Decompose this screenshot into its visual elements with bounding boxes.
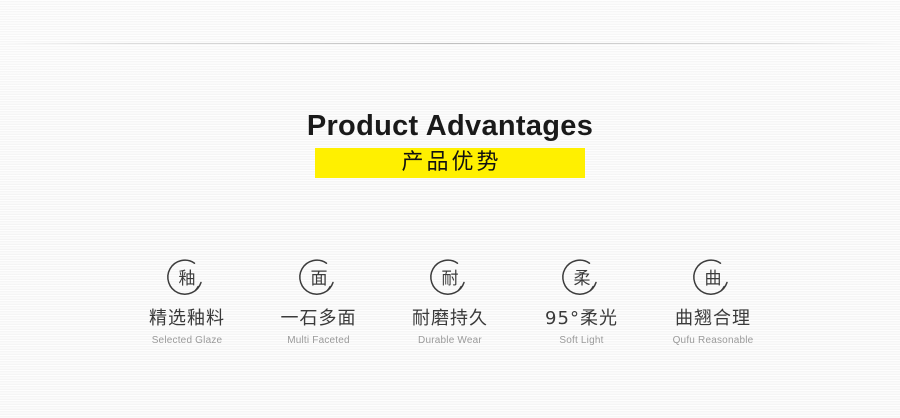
feature-item: 釉 精选釉料 Selected Glaze: [131, 255, 243, 348]
features-row: 釉 精选釉料 Selected Glaze 面 一石多面 Multi Facet…: [131, 255, 769, 348]
feature-label-chinese: 一石多面: [263, 307, 375, 331]
top-divider: [0, 43, 900, 44]
feature-item: 耐 耐磨持久 Durable Wear: [394, 255, 506, 348]
soft-light-circle-icon: 柔: [526, 255, 638, 301]
heading-block: Product Advantages 产品优势: [0, 108, 900, 178]
warp-circle-icon: 曲: [657, 255, 769, 301]
icon-glyph-text: 曲: [705, 269, 722, 289]
feature-label-english: Multi Faceted: [263, 334, 375, 348]
feature-label-chinese: 95°柔光: [526, 307, 638, 331]
feature-label-english: Qufu Reasonable: [657, 334, 769, 348]
feature-item: 曲 曲翘合理 Qufu Reasonable: [657, 255, 769, 348]
feature-label-chinese: 耐磨持久: [394, 307, 506, 331]
product-advantages-page: Product Advantages 产品优势 釉 精选釉料 Selected …: [0, 0, 900, 418]
page-title-chinese-highlight: 产品优势: [315, 148, 585, 178]
feature-label-english: Durable Wear: [394, 334, 506, 348]
feature-item: 面 一石多面 Multi Faceted: [263, 255, 375, 348]
icon-glyph-text: 面: [310, 269, 327, 289]
feature-label-chinese: 曲翘合理: [657, 307, 769, 331]
heading-highlight-wrap: 产品优势: [0, 148, 900, 178]
page-title-english: Product Advantages: [0, 108, 900, 144]
glaze-circle-icon: 釉: [131, 255, 243, 301]
icon-glyph-text: 耐: [442, 269, 459, 289]
faceted-circle-icon: 面: [263, 255, 375, 301]
feature-label-chinese: 精选釉料: [131, 307, 243, 331]
icon-glyph-text: 釉: [179, 269, 196, 289]
icon-glyph-text: 柔: [573, 269, 590, 289]
durable-circle-icon: 耐: [394, 255, 506, 301]
feature-label-english: Soft Light: [526, 334, 638, 348]
feature-item: 柔 95°柔光 Soft Light: [526, 255, 638, 348]
feature-label-english: Selected Glaze: [131, 334, 243, 348]
